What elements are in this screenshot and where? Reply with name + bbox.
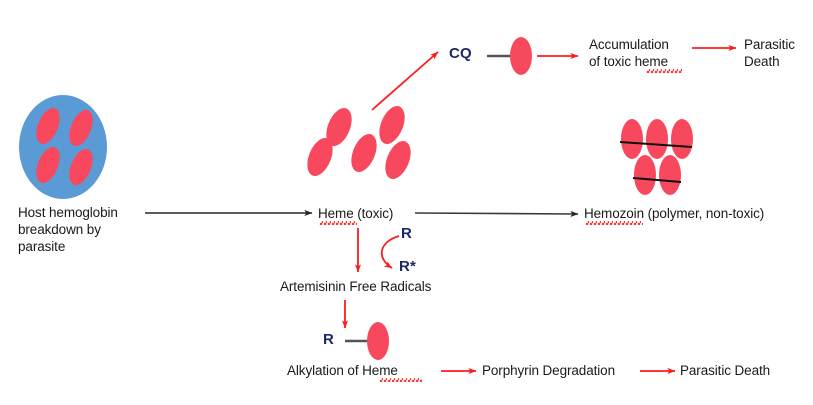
arrow-heme-to-cq — [372, 52, 438, 110]
spellcheck-underline-heme-accumulation — [646, 69, 682, 73]
label-hemozoin: Hemozoin (polymer, non-toxic) — [584, 205, 764, 222]
diagram-graphics-layer — [0, 0, 813, 405]
label-r-radical: R — [401, 225, 412, 242]
label-r-bottom: R — [323, 331, 334, 348]
hemozoin-ellipse — [659, 155, 681, 195]
label-alkylation-of-heme: Alkylation of Heme — [287, 362, 398, 379]
label-parasitic-death-bottom: Parasitic Death — [680, 362, 770, 379]
cq-bound-heme-graphic — [487, 37, 532, 75]
hemozoin-ellipse — [646, 119, 668, 159]
label-cq: CQ — [449, 45, 472, 62]
infected-cell-graphic — [19, 95, 107, 199]
cell-body-ellipse — [19, 95, 107, 199]
label-heme-toxic: Heme (toxic) — [318, 205, 393, 222]
hemozoin-ellipse — [621, 119, 643, 159]
label-parasitic-death-top: Parasitic Death — [744, 36, 795, 70]
spellcheck-underline-heme — [319, 221, 357, 225]
spellcheck-underline-hemozoin — [585, 221, 643, 225]
free-heme-ellipse — [380, 137, 415, 182]
hemozoin-ellipse — [671, 119, 693, 159]
free-heme-ellipse — [346, 130, 381, 175]
free-heme-cluster-graphic — [302, 102, 415, 182]
hemozoin-ellipse — [634, 155, 656, 195]
spellcheck-underline-heme-alkylation — [379, 378, 422, 382]
free-heme-ellipse — [374, 102, 409, 147]
label-host-hemoglobin-breakdown: Host hemoglobin breakdown by parasite — [18, 204, 118, 255]
hemozoin-cluster-graphic — [620, 119, 693, 195]
diagram-canvas: Host hemoglobin breakdown by parasite He… — [0, 0, 813, 405]
cq-heme-ellipse — [510, 37, 532, 75]
label-porphyrin-degradation: Porphyrin Degradation — [482, 362, 615, 379]
arrow-heme-to-hemozoin — [415, 213, 578, 214]
r-heme-ellipse — [367, 322, 389, 360]
label-accumulation-of-toxic-heme: Accumulation of toxic heme — [589, 36, 669, 70]
label-artemisinin-free-radicals: Artemisinin Free Radicals — [280, 278, 431, 295]
r-bound-heme-graphic — [345, 322, 389, 360]
arrow-r-to-rstar — [382, 236, 399, 268]
label-r-star-radical: R* — [399, 258, 416, 275]
